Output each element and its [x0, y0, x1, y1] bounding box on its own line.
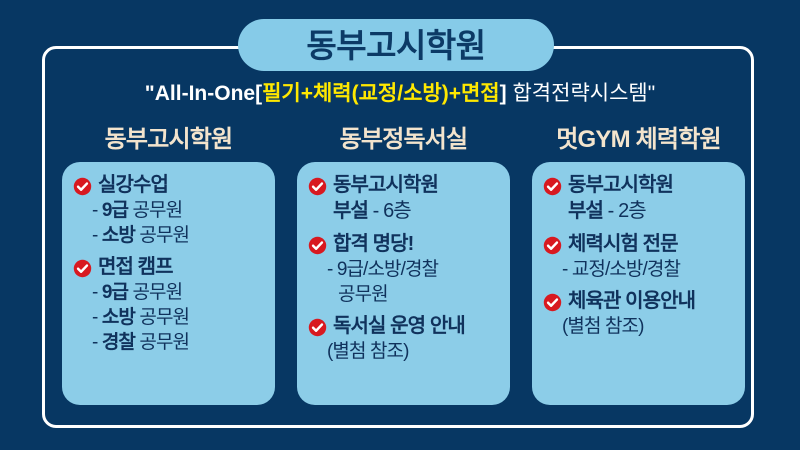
subitem-dash: -: [92, 282, 102, 303]
subitem-dash: -: [92, 332, 102, 353]
subitem-dash: -: [92, 307, 102, 328]
feature-item-heading-bold: 면접 캠프: [98, 256, 173, 278]
feature-item-heading-line2: 부설: [333, 200, 368, 222]
subitem-dash: -: [327, 259, 337, 280]
subtitle-bracket-close: ]: [500, 82, 507, 105]
check-circle-icon: [308, 318, 327, 337]
feature-subitem: - 9급/소방/경찰: [308, 258, 500, 283]
subtitle-allinone: "All-In-One: [145, 82, 255, 105]
feature-item-note: (별첨 참조): [543, 315, 735, 340]
feature-item: 합격 명당!: [308, 231, 500, 257]
check-circle-icon: [73, 259, 92, 278]
feature-item-heading: 합격 명당!: [333, 231, 413, 257]
subitem-bold: 소방: [102, 307, 135, 328]
subitem-dash: -: [562, 259, 572, 280]
subitem-normal: 교정/소방/경찰: [572, 259, 680, 280]
feature-item-heading: 면접 캠프: [98, 254, 173, 280]
feature-item-heading-light: - 2층: [603, 200, 646, 222]
column-3: 멋GYM 체력학원동부고시학원부설 - 2층체력시험 전문- 교정/소방/경찰체…: [532, 128, 745, 405]
feature-item-heading: 동부고시학원부설 - 6층: [333, 172, 438, 225]
feature-item: 체력시험 전문: [543, 231, 735, 257]
column-card: 동부고시학원부설 - 2층체력시험 전문- 교정/소방/경찰체육관 이용안내(별…: [532, 162, 745, 405]
feature-item-heading: 독서실 운영 안내: [333, 313, 465, 339]
column-header: 멋GYM 체력학원: [532, 128, 745, 152]
column-header: 동부고시학원: [62, 128, 275, 152]
feature-item: 동부고시학원부설 - 2층: [543, 172, 735, 225]
academy-title: 동부고시학원: [306, 29, 485, 62]
subitem-bold: 9급: [102, 200, 128, 221]
subitem-bold: 소방: [102, 225, 135, 246]
feature-item-heading-line2: 부설: [568, 200, 603, 222]
check-circle-icon: [308, 177, 327, 196]
title-banner: 동부고시학원: [238, 19, 554, 71]
feature-item: 동부고시학원부설 - 6층: [308, 172, 500, 225]
check-circle-icon: [543, 177, 562, 196]
feature-item-heading-light: - 6층: [368, 200, 411, 222]
subitem-normal: 공무원: [128, 282, 182, 303]
subitem-normal: 공무원: [135, 225, 189, 246]
feature-item-heading: 체육관 이용안내: [568, 288, 695, 314]
feature-item-heading-bold: 동부고시학원: [568, 174, 673, 196]
check-circle-icon: [543, 293, 562, 312]
columns-container: 동부고시학원실강수업- 9급 공무원- 소방 공무원면접 캠프- 9급 공무원-…: [62, 128, 745, 405]
column-header: 동부정독서실: [297, 128, 510, 152]
check-circle-icon: [308, 236, 327, 255]
column-1: 동부고시학원실강수업- 9급 공무원- 소방 공무원면접 캠프- 9급 공무원-…: [62, 128, 275, 405]
check-circle-icon: [543, 236, 562, 255]
feature-item: 실강수업: [73, 172, 265, 198]
subitem-normal: 공무원: [135, 332, 189, 353]
feature-subitem: - 경찰 공무원: [73, 331, 265, 356]
feature-subitem: - 9급 공무원: [73, 199, 265, 224]
poster-root: 동부고시학원 "All-In-One[필기+체력(교정/소방)+면접] 합격전략…: [0, 0, 800, 450]
column-2: 동부정독서실동부고시학원부설 - 6층합격 명당!- 9급/소방/경찰공무원독서…: [297, 128, 510, 405]
feature-item-note: (별첨 참조): [308, 340, 500, 365]
feature-item-heading: 동부고시학원부설 - 2층: [568, 172, 673, 225]
feature-item: 면접 캠프: [73, 254, 265, 280]
feature-item-heading-bold: 합격 명당!: [333, 233, 413, 255]
feature-subitem: 공무원: [308, 283, 500, 308]
subitem-normal: 공무원: [338, 284, 388, 305]
column-card: 동부고시학원부설 - 6층합격 명당!- 9급/소방/경찰공무원독서실 운영 안…: [297, 162, 510, 405]
feature-item-heading: 실강수업: [98, 172, 168, 198]
feature-subitem: - 소방 공무원: [73, 224, 265, 249]
column-card: 실강수업- 9급 공무원- 소방 공무원면접 캠프- 9급 공무원- 소방 공무…: [62, 162, 275, 405]
check-circle-icon: [73, 177, 92, 196]
feature-item-heading-bold: 실강수업: [98, 174, 168, 196]
feature-item-heading-bold: 동부고시학원: [333, 174, 438, 196]
subitem-normal: 공무원: [135, 307, 189, 328]
subtitle-tail: 합격전략시스템": [512, 82, 655, 105]
feature-subitem: - 9급 공무원: [73, 281, 265, 306]
feature-item: 독서실 운영 안내: [308, 313, 500, 339]
feature-subitem: - 소방 공무원: [73, 306, 265, 331]
feature-item: 체육관 이용안내: [543, 288, 735, 314]
subtitle-line: "All-In-One[필기+체력(교정/소방)+면접] 합격전략시스템": [0, 83, 800, 104]
feature-item-heading-bold: 체육관 이용안내: [568, 290, 695, 312]
subtitle-highlight: 필기+체력(교정/소방)+면접: [262, 82, 500, 105]
subitem-dash: -: [92, 200, 102, 221]
subitem-bold: 경찰: [102, 332, 135, 353]
subitem-dash: -: [92, 225, 102, 246]
feature-subitem: - 교정/소방/경찰: [543, 258, 735, 283]
subitem-bold: 9급: [102, 282, 128, 303]
feature-item-heading-bold: 체력시험 전문: [568, 233, 678, 255]
feature-item-heading-bold: 독서실 운영 안내: [333, 315, 465, 337]
subitem-normal: 9급/소방/경찰: [337, 259, 438, 280]
feature-item-heading: 체력시험 전문: [568, 231, 678, 257]
subitem-normal: 공무원: [128, 200, 182, 221]
